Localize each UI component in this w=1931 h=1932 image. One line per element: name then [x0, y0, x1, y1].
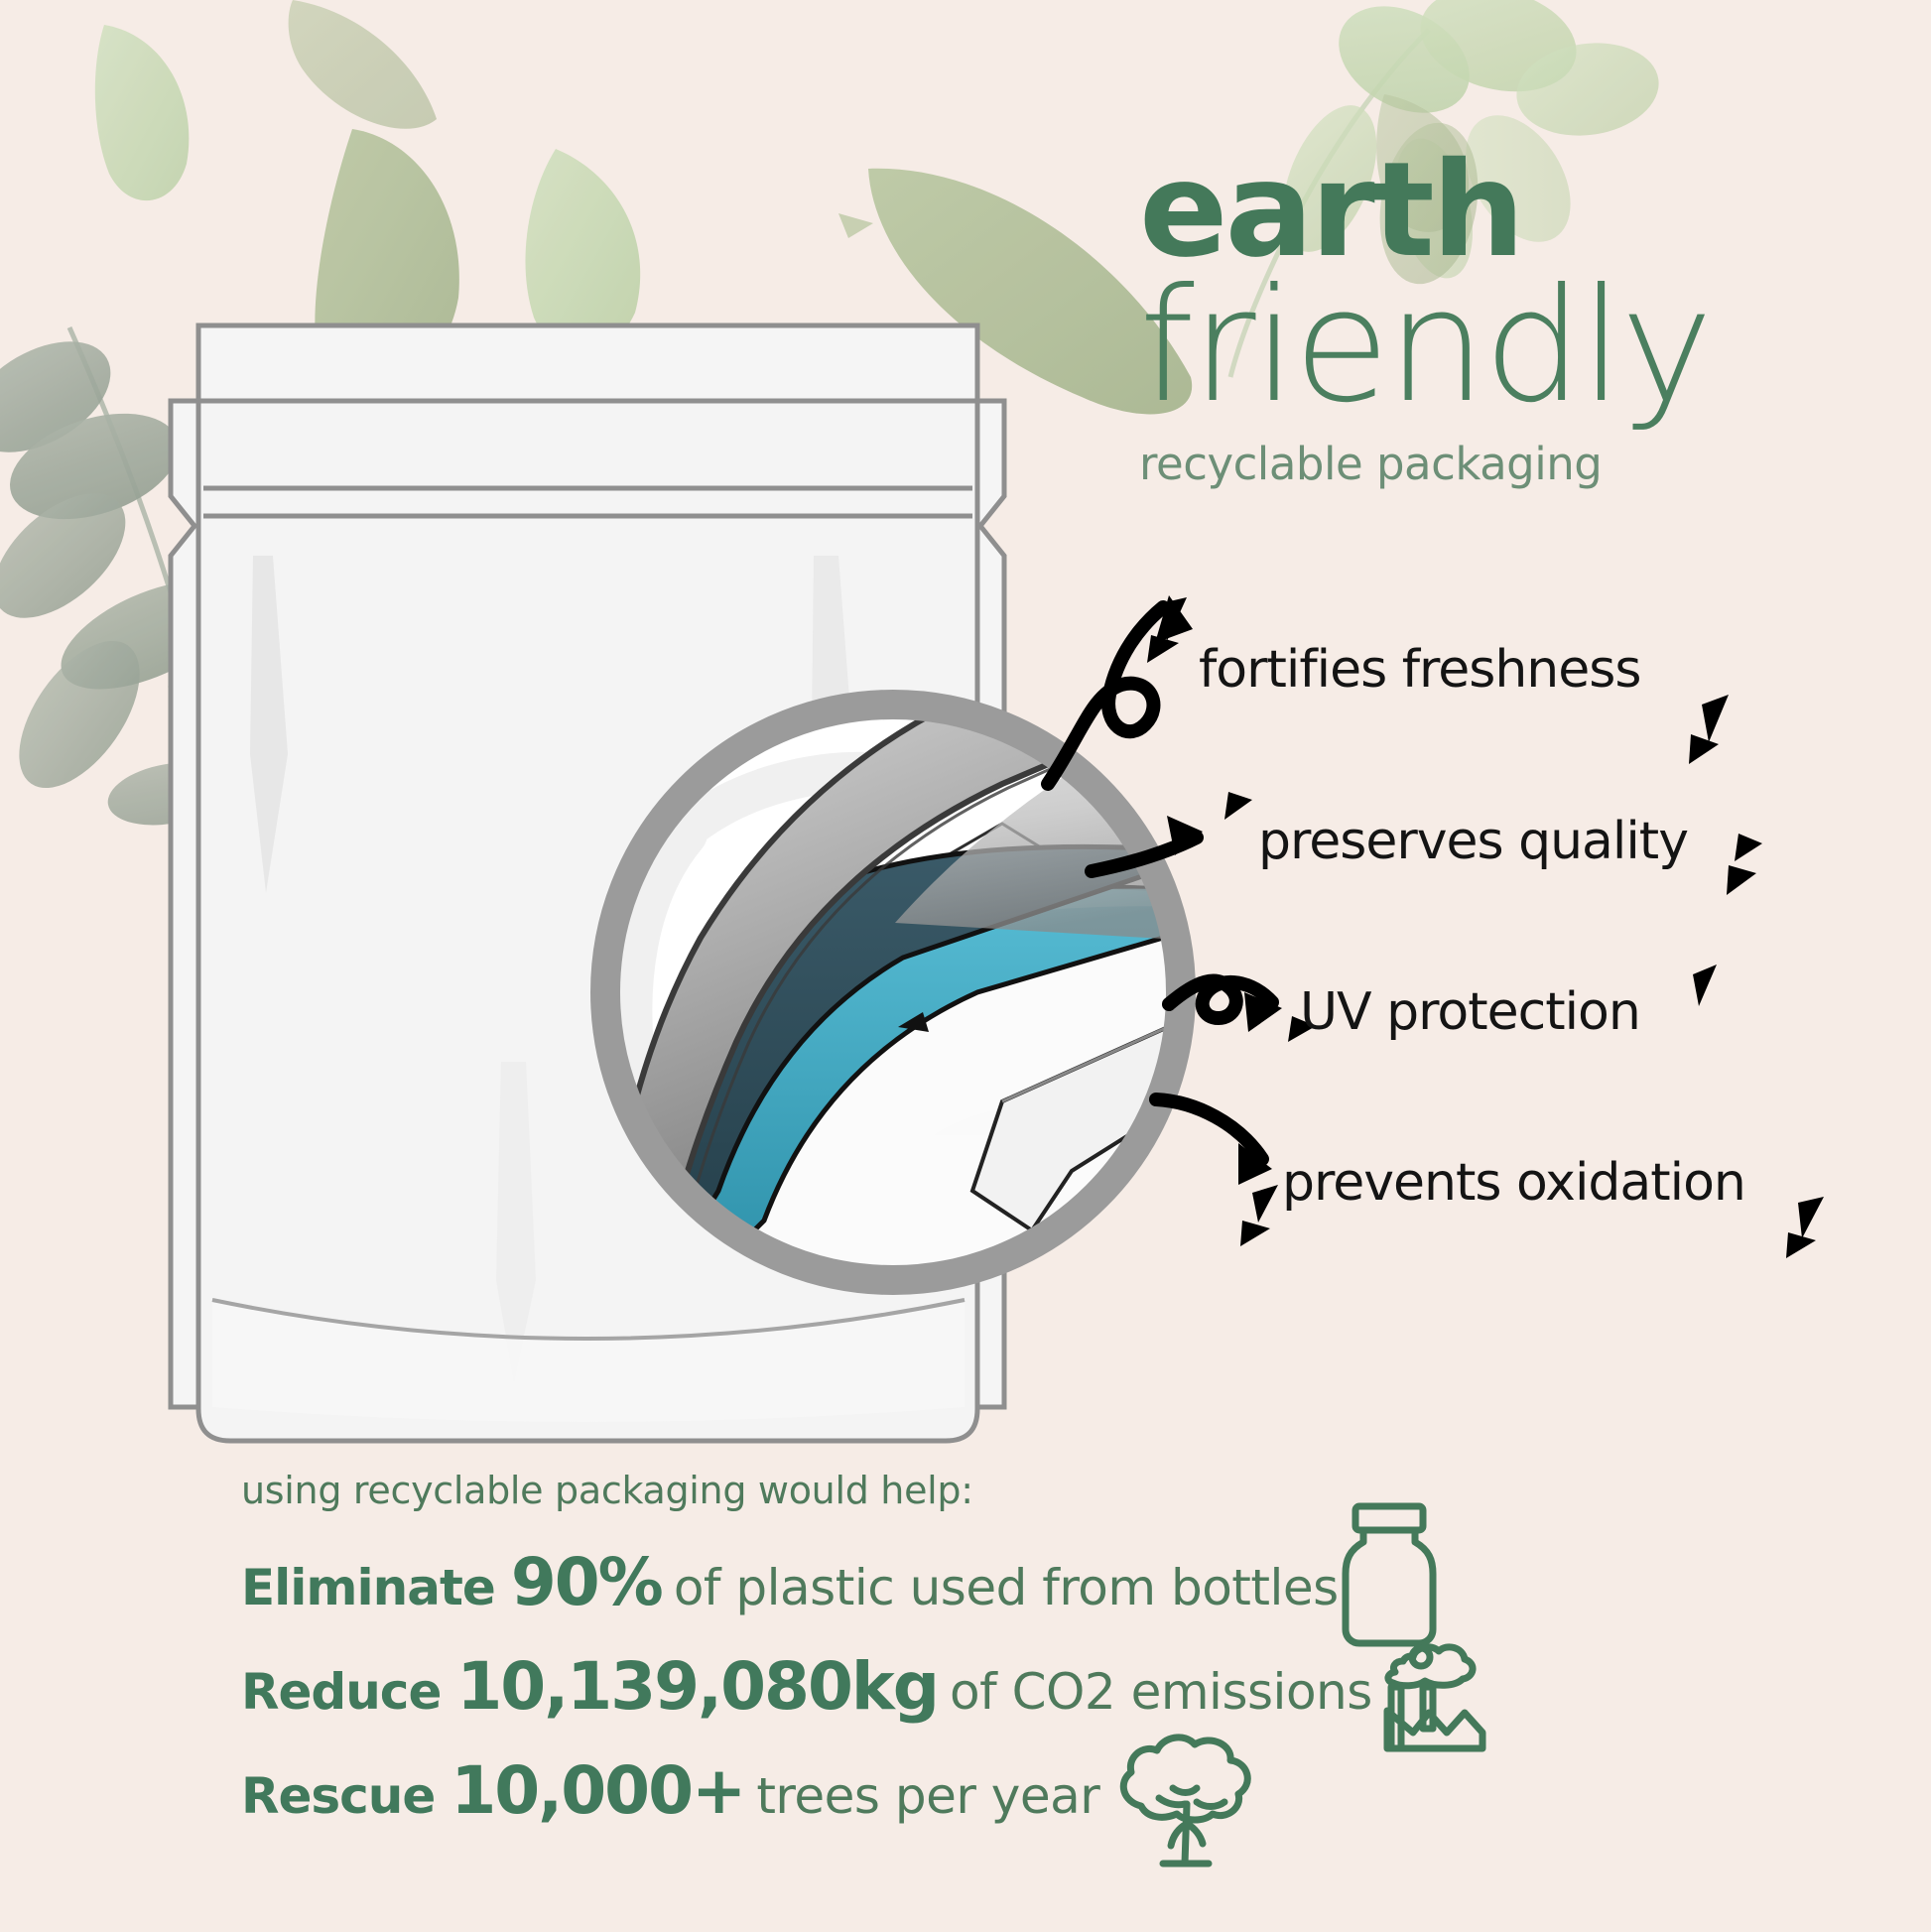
- feature-label-fortifies-freshness: fortifies freshness: [1199, 640, 1640, 700]
- stat-verb: Eliminate: [241, 1559, 495, 1616]
- title-line-friendly: friendly: [1139, 267, 1923, 427]
- stat-verb: Rescue: [241, 1767, 435, 1825]
- stat-value: 10,000+: [451, 1752, 744, 1829]
- statistics-intro: using recyclable packaging would help:: [241, 1469, 1412, 1512]
- magnifier-lens-icon: [601, 665, 1245, 1320]
- stat-row-eliminate: Eliminate 90% of plastic used from bottl…: [241, 1544, 1412, 1620]
- stat-value: 90%: [511, 1544, 662, 1620]
- page-title: earth friendly recyclable packaging: [1139, 149, 1923, 490]
- feature-label-uv-protection: UV protection: [1300, 982, 1640, 1042]
- stat-tail: of plastic used from bottles: [674, 1559, 1339, 1616]
- infographic-canvas: earth friendly recyclable packaging fort…: [0, 0, 1931, 1932]
- stat-value: 10,139,080kg: [456, 1648, 938, 1725]
- feature-label-prevents-oxidation: prevents oxidation: [1282, 1153, 1745, 1213]
- stat-tail: of CO2 emissions: [950, 1663, 1372, 1721]
- stat-row-reduce: Reduce 10,139,080kg of CO2 emissions: [241, 1648, 1412, 1725]
- stat-tail: trees per year: [756, 1767, 1099, 1825]
- title-subtitle: recyclable packaging: [1139, 438, 1923, 490]
- factory-icon: [1367, 1617, 1506, 1766]
- tree-icon: [1101, 1725, 1270, 1873]
- stat-verb: Reduce: [241, 1663, 441, 1721]
- feature-label-preserves-quality: preserves quality: [1258, 812, 1688, 871]
